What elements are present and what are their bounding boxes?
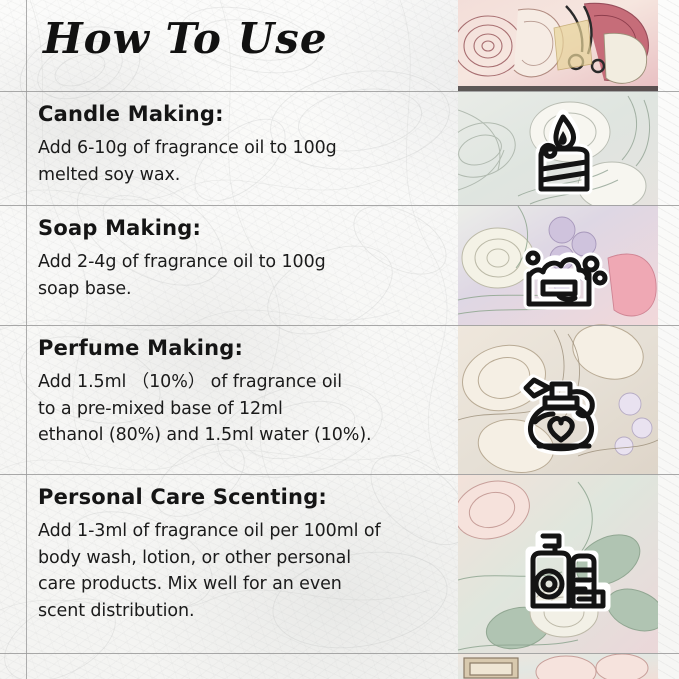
divider-candle — [0, 205, 679, 206]
section-heading: Soap Making: — [38, 216, 448, 240]
body-line: Add 1.5ml （10%） of fragrance oil — [38, 369, 448, 396]
body-line: body wash, lotion, or other personal — [38, 545, 448, 572]
right-margin-texture — [658, 0, 679, 679]
section-heading: Candle Making: — [38, 102, 448, 126]
body-line: Add 2-4g of fragrance oil to 100g — [38, 249, 448, 276]
body-line: soap base. — [38, 276, 448, 303]
divider-personal-care — [0, 653, 679, 654]
section-soap-making: Soap Making: Add 2-4g of fragrance oil t… — [38, 216, 448, 302]
body-line: care products. Mix well for an even — [38, 571, 448, 598]
divider-title — [0, 91, 679, 92]
section-body: Add 1-3ml of fragrance oil per 100ml of … — [38, 518, 448, 624]
divider-perfume — [0, 474, 679, 475]
section-personal-care-scenting: Personal Care Scenting: Add 1-3ml of fra… — [38, 485, 448, 624]
soap-bar-icon — [515, 230, 611, 326]
how-to-use-infographic: How To Use Candle Making: Add 6-10g of f… — [0, 0, 679, 679]
section-perfume-making: Perfume Making: Add 1.5ml （10%） of fragr… — [38, 336, 448, 449]
body-line: Add 1-3ml of fragrance oil per 100ml of — [38, 518, 448, 545]
section-body: Add 6-10g of fragrance oil to 100g melte… — [38, 135, 448, 188]
candle-icon — [515, 105, 611, 201]
left-vertical-rule — [26, 0, 27, 679]
body-line: to a pre-mixed base of 12ml — [38, 396, 448, 423]
section-heading: Perfume Making: — [38, 336, 448, 360]
body-line: ethanol (80%) and 1.5ml water (10%). — [38, 422, 448, 449]
body-line: melted soy wax. — [38, 162, 448, 189]
lotion-bottle-icon — [515, 522, 611, 618]
section-heading: Personal Care Scenting: — [38, 485, 448, 509]
body-line: scent distribution. — [38, 598, 448, 625]
section-body: Add 2-4g of fragrance oil to 100g soap b… — [38, 249, 448, 302]
perfume-bottle-icon — [515, 362, 611, 458]
page-title: How To Use — [43, 14, 328, 63]
body-line: Add 6-10g of fragrance oil to 100g — [38, 135, 448, 162]
section-body: Add 1.5ml （10%） of fragrance oil to a pr… — [38, 369, 448, 449]
section-candle-making: Candle Making: Add 6-10g of fragrance oi… — [38, 102, 448, 188]
